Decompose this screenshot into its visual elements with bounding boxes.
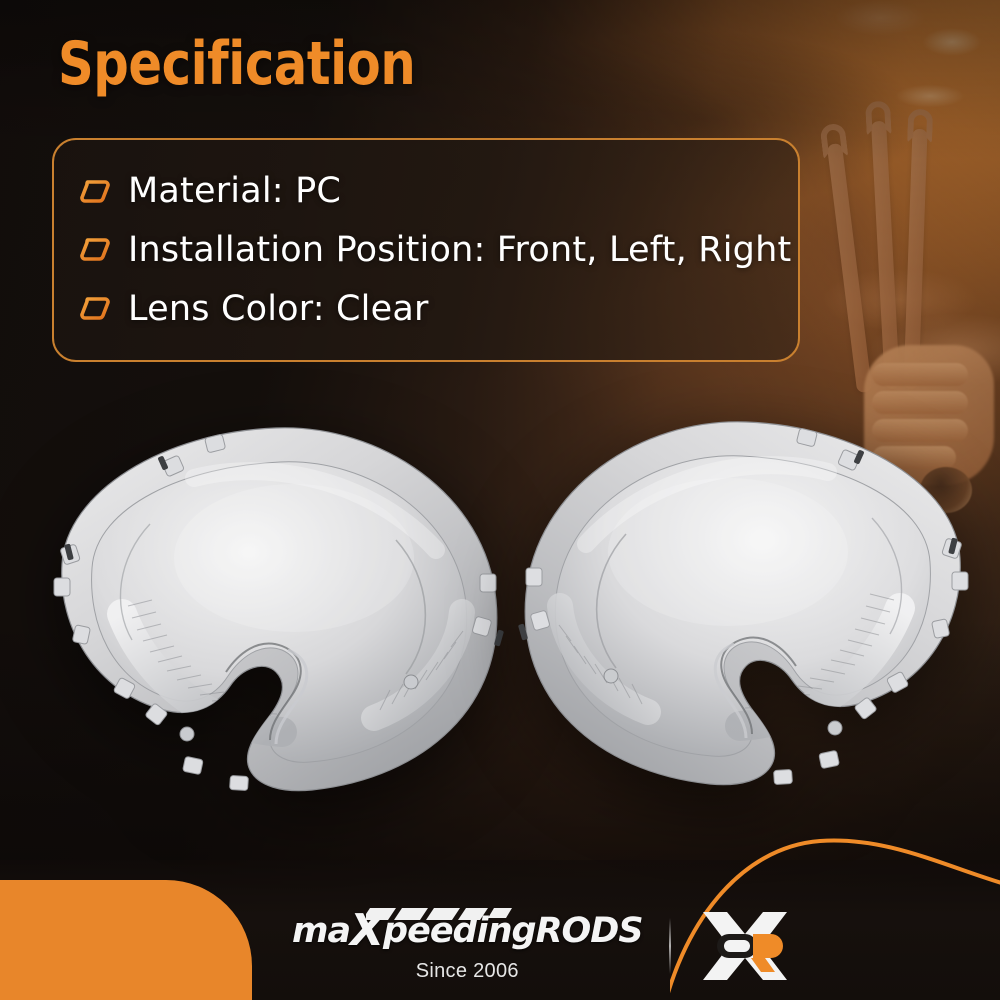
parallelogram-bullet-icon (80, 297, 110, 320)
logo-divider (669, 918, 671, 974)
spec-item: Lens Color: Clear (80, 289, 772, 329)
brand-since-label: Since 2006 (416, 960, 519, 983)
brand-wordmark: maXpeedingRODS (292, 909, 643, 953)
spec-item-label: Material: PC (128, 171, 341, 211)
speed-streaks-icon (366, 894, 516, 910)
or-x-logo-icon (697, 908, 793, 984)
spec-item-label: Installation Position: Front, Left, Righ… (128, 230, 791, 270)
specification-box: Material: PC Installation Position: Fron… (52, 138, 800, 362)
orange-rounded-corner-shape (0, 880, 252, 1000)
spec-item: Installation Position: Front, Left, Righ… (80, 230, 772, 270)
spec-item-label: Lens Color: Clear (128, 289, 429, 329)
spec-item: Material: PC (80, 171, 772, 211)
brand-prefix: ma (292, 911, 350, 951)
footer-band: maXpeedingRODS Since 2006 (0, 860, 1000, 1000)
parallelogram-bullet-icon (80, 238, 110, 261)
product-image-left (44, 418, 514, 808)
parallelogram-bullet-icon (80, 180, 110, 203)
specification-banner: Specification Material: PC (0, 0, 1000, 1000)
maxpeedingrods-logo: maXpeedingRODS Since 2006 (292, 909, 643, 983)
product-image-right (508, 412, 978, 802)
page-title: Specification (58, 34, 415, 94)
brand-logo-lockup: maXpeedingRODS Since 2006 (292, 908, 793, 984)
brand-suffix: RODS (536, 911, 643, 951)
